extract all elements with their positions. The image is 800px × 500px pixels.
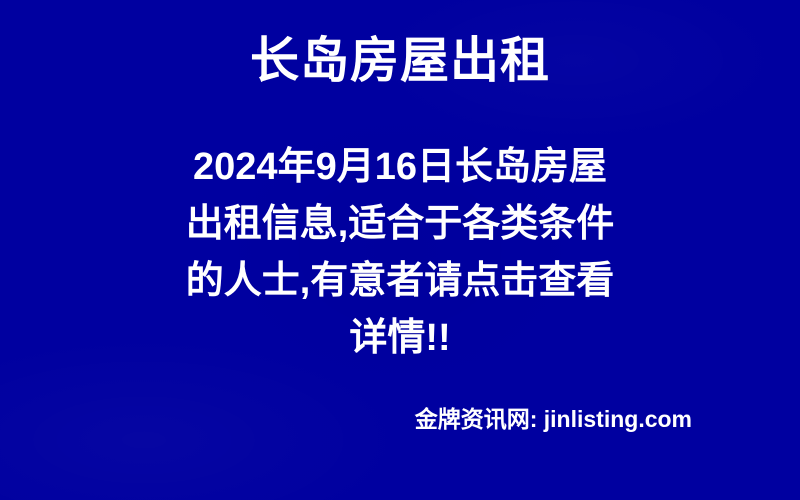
body-line-2: 出租信息,适合于各类条件 [0, 196, 800, 253]
rental-ad-poster: 长岛房屋出租 2024年9月16日长岛房屋 出租信息,适合于各类条件 的人士,有… [0, 0, 800, 500]
body-line-1: 2024年9月16日长岛房屋 [0, 139, 800, 196]
site-attribution: 金牌资讯网: jinlisting.com [0, 404, 800, 434]
body-line-4: 详情!! [0, 310, 800, 367]
page-title: 长岛房屋出租 [0, 34, 800, 89]
body-line-3: 的人士,有意者请点击查看 [0, 253, 800, 310]
poster-body-text: 2024年9月16日长岛房屋 出租信息,适合于各类条件 的人士,有意者请点击查看… [0, 139, 800, 367]
